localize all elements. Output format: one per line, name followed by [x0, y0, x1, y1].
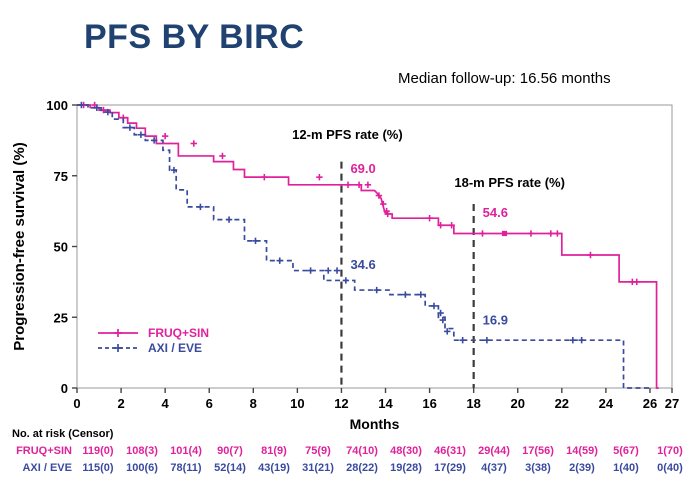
kaplan-meier-plot: 0255075100Progression-free survival (%)0…	[0, 0, 692, 430]
x-tick-label: 16	[422, 396, 436, 411]
pfs-rate-marker	[502, 231, 507, 236]
x-tick-label: 22	[555, 396, 569, 411]
risk-cell: 14(59)	[560, 445, 604, 457]
risk-cell: 119(0)	[76, 445, 120, 457]
legend-label-1: FRUQ+SIN	[148, 326, 209, 340]
risk-row-label: AXI / EVE	[0, 462, 76, 474]
risk-cell: 28(22)	[340, 462, 384, 474]
18m-title: 18-m PFS rate (%)	[454, 175, 565, 190]
12m-blue-value: 34.6	[350, 257, 375, 272]
risk-cell: 90(7)	[208, 445, 252, 457]
x-tick-label: 4	[162, 396, 170, 411]
risk-cell: 108(3)	[120, 445, 164, 457]
risk-row: FRUQ+SIN119(0)108(3)101(4)90(7)81(9)75(9…	[0, 445, 692, 457]
risk-row: AXI / EVE115(0)100(6)78(11)52(14)43(19)3…	[0, 462, 692, 474]
risk-cell: 29(44)	[472, 445, 516, 457]
x-tick-label: 20	[511, 396, 525, 411]
x-tick-label: 6	[206, 396, 213, 411]
risk-cell: 1(70)	[648, 445, 692, 457]
risk-cell: 75(9)	[296, 445, 340, 457]
median-followup-label: Median follow-up: 16.56 months	[398, 70, 611, 87]
page-title: PFS BY BIRC	[84, 18, 304, 57]
risk-cell: 1(40)	[604, 462, 648, 474]
x-tick-label: 8	[250, 396, 257, 411]
y-tick-label: 0	[61, 381, 68, 396]
risk-cell: 43(19)	[252, 462, 296, 474]
risk-cell: 5(67)	[604, 445, 648, 457]
risk-cell: 78(11)	[164, 462, 208, 474]
x-tick-label: 18	[466, 396, 480, 411]
risk-cell: 46(31)	[428, 445, 472, 457]
risk-cell: 101(4)	[164, 445, 208, 457]
pfs-figure: PFS BY BIRC Median follow-up: 16.56 mont…	[0, 0, 692, 490]
risk-cell: 17(29)	[428, 462, 472, 474]
risk-table-rows: FRUQ+SIN119(0)108(3)101(4)90(7)81(9)75(9…	[0, 445, 692, 474]
risk-table: No. at risk (Censor) FRUQ+SIN119(0)108(3…	[0, 428, 692, 474]
risk-cell: 48(30)	[384, 445, 428, 457]
risk-cell: 100(6)	[120, 462, 164, 474]
18m-blue-value: 16.9	[483, 312, 508, 327]
risk-cell: 17(56)	[516, 445, 560, 457]
risk-cell: 81(9)	[252, 445, 296, 457]
risk-cell: 115(0)	[76, 462, 120, 474]
12m-pink-value: 69.0	[350, 161, 375, 176]
risk-row-label: FRUQ+SIN	[0, 445, 76, 457]
risk-cell: 4(37)	[472, 462, 516, 474]
x-tick-label: 24	[599, 396, 614, 411]
y-tick-label: 25	[54, 310, 68, 325]
risk-cell: 74(10)	[340, 445, 384, 457]
x-tick-label: 26	[643, 396, 657, 411]
risk-row-values: 119(0)108(3)101(4)90(7)81(9)75(9)74(10)4…	[76, 445, 692, 457]
risk-row-values: 115(0)100(6)78(11)52(14)43(19)31(21)28(2…	[76, 462, 692, 474]
x-tick-label: 10	[290, 396, 304, 411]
y-axis-title: Progression-free survival (%)	[11, 142, 28, 350]
risk-cell: 31(21)	[296, 462, 340, 474]
risk-cell: 52(14)	[208, 462, 252, 474]
x-tick-label: 12	[334, 396, 348, 411]
x-tick-label: 27	[665, 396, 679, 411]
x-tick-label: 0	[73, 396, 80, 411]
risk-cell: 19(28)	[384, 462, 428, 474]
risk-table-heading: No. at risk (Censor)	[12, 428, 692, 440]
risk-cell: 0(40)	[648, 462, 692, 474]
risk-cell: 3(38)	[516, 462, 560, 474]
legend-label-2: AXI / EVE	[148, 341, 202, 355]
y-tick-label: 75	[54, 169, 68, 184]
x-tick-label: 14	[378, 396, 393, 411]
x-tick-label: 2	[117, 396, 124, 411]
y-tick-label: 100	[46, 98, 68, 113]
risk-cell: 2(39)	[560, 462, 604, 474]
y-tick-label: 50	[54, 240, 68, 255]
12m-title: 12-m PFS rate (%)	[292, 127, 403, 142]
18m-pink-value: 54.6	[483, 205, 508, 220]
